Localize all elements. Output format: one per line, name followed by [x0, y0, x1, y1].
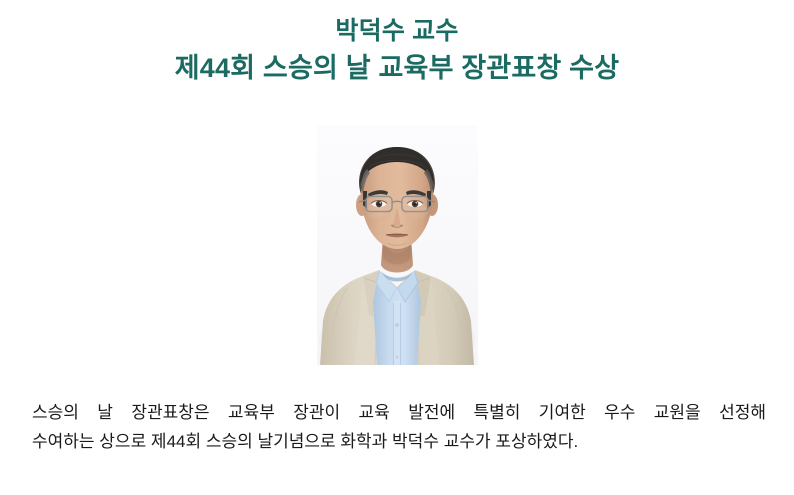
- professor-portrait-photo: [317, 125, 478, 365]
- page-title: 박덕수 교수 제44회 스승의 날 교육부 장관표창 수상: [0, 13, 794, 87]
- title-line-1: 박덕수 교수: [0, 13, 794, 49]
- body-line-1: 스승의 날 장관표창은 교육부 장관이 교육 발전에 특별히 기여한 우수 교원…: [32, 398, 766, 427]
- portrait-illustration: [317, 125, 478, 365]
- body-line-2: 수여하는 상으로 제44회 스승의 날기념으로 화학과 박덕수 교수가 포상하였…: [32, 427, 766, 456]
- article-page: 박덕수 교수 제44회 스승의 날 교육부 장관표창 수상: [0, 0, 794, 495]
- article-body: 스승의 날 장관표창은 교육부 장관이 교육 발전에 특별히 기여한 우수 교원…: [32, 398, 766, 456]
- title-line-2: 제44회 스승의 날 교육부 장관표창 수상: [0, 49, 794, 87]
